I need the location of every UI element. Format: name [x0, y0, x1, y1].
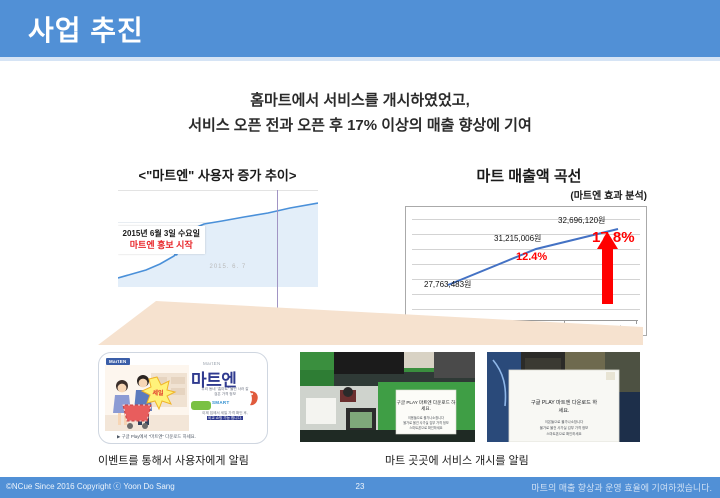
svg-text:구글 PLAY 마트엔 다운로드 하: 구글 PLAY 마트엔 다운로드 하 [397, 399, 456, 406]
connector-shape [98, 297, 643, 345]
counter-photo-image: 구글 PLAY 마트엔 다운로드 하 세요. 이용들으로 물가나소창니다 물가로… [300, 352, 475, 442]
lead-line-1: 홈마트에서 서비스를 개시하였었고, [0, 88, 720, 113]
promotion-callout-date: 2015년 6월 3일 수요일 [123, 228, 201, 239]
caption-left: 이벤트를 통해서 사용자에게 알림 [98, 452, 249, 468]
poster-photo-image: 구글 PLAY 마트엔 다운로드 하 세요. 이온들으로 물가나소창니다 물가로… [487, 352, 640, 442]
page-title: 사업 추진 [28, 9, 144, 49]
user-growth-chart-plot: 2015. 6. 7 2015년 6월 3일 수요일 마트엔 홍보 시작 [118, 190, 318, 287]
app-desc-line-4: 이제 집에서 세일 가격 확인 후, [202, 411, 248, 415]
android-robot-icon [191, 401, 211, 410]
svg-text:구글 PLAY 마트엔 다운로드 하: 구글 PLAY 마트엔 다운로드 하 [531, 398, 598, 406]
app-desc-line-5: 비교 쇼핑 가능 합니다. [207, 416, 243, 420]
user-growth-chart: <"마트엔" 사용자 증가 추이> 2015. 6. 7 2015년 6월 3일… [110, 165, 325, 287]
svg-text:스마트폰으로 확인하세요: 스마트폰으로 확인하세요 [546, 431, 581, 436]
event-marker-line [277, 190, 278, 308]
growth-pct-twoweek: 17.8% [592, 229, 635, 246]
sales-label-week: 31,215,006원 [494, 233, 541, 244]
app-desc-line-1: 우리 동네 "홈마트" 물건 사러 갈 [201, 387, 248, 391]
header-underline [0, 57, 720, 61]
growth-pct-week: 12.4% [516, 251, 547, 263]
user-growth-chart-title: <"마트엔" 사용자 증가 추이> [110, 165, 325, 184]
svg-text:세요.: 세요. [421, 405, 431, 412]
promotion-callout-text: 마트엔 홍보 시작 [123, 239, 201, 251]
slide-footer-bar: ©NCue Since 2016 Copyright ⓒ Yoon Do San… [0, 477, 720, 498]
lead-text-block: 홈마트에서 서비스를 개시하였었고, 서비스 오픈 전과 오픈 후 17% 이상… [0, 88, 720, 138]
app-desc-line-2: 검은 가격 정보 [214, 392, 236, 396]
svg-text:세일: 세일 [152, 389, 164, 397]
photo-app-promo-card: MartEN [98, 352, 268, 444]
svg-text:물가로 물건 사가실 김부 가격 정보: 물가로 물건 사가실 김부 가격 정보 [403, 420, 449, 425]
sales-label-twoweek: 32,696,120원 [558, 215, 605, 226]
app-store-chip: SMART [212, 400, 230, 405]
sales-curve-chart-title: 마트 매출액 곡선 [405, 165, 653, 186]
sales-curve-chart-subtitle: (마트엔 효과 분석) [405, 187, 653, 202]
lead-line-2: 서비스 오픈 전과 오픈 후 17% 이상의 매출 향상에 기여 [0, 113, 720, 138]
app-store-footer: ▶ 구글 Play에서 "마트엔" 다운로드 하세요. [117, 434, 196, 440]
caption-right: 마트 곳곳에 서비스 개시를 알림 [385, 452, 529, 468]
photo-service-poster: 구글 PLAY 마트엔 다운로드 하 세요. 이온들으로 물가나소창니다 물가로… [487, 352, 640, 442]
promotion-callout: 2015년 6월 3일 수요일 마트엔 홍보 시작 [118, 226, 206, 254]
svg-text:스마트폰으로 확인하세요: 스마트폰으로 확인하세요 [409, 425, 442, 430]
user-growth-axis-date: 2015. 6. 7 [210, 264, 247, 270]
sales-label-before: 27,763,483원 [424, 279, 471, 290]
footer-tagline: 마트의 매출 향상과 운영 효율에 기여하겠습니다. [531, 481, 712, 494]
app-description-2: 이제 집에서 세일 가격 확인 후, 비교 쇼핑 가능 합니다. [191, 411, 259, 422]
mascot-icon [247, 389, 261, 407]
app-logo-badge: MartEN [106, 358, 130, 365]
shoppers-illustration: 세일 [105, 365, 189, 431]
svg-text:세요.: 세요. [559, 406, 570, 414]
svg-text:물가로 물건 사가실 김부 가격 정보: 물가로 물건 사가실 김부 가격 정보 [540, 425, 588, 430]
svg-text:이온들으로 물가나소창니다: 이온들으로 물가나소창니다 [545, 419, 584, 424]
photo-mart-counter: 구글 PLAY 마트엔 다운로드 하 세요. 이용들으로 물가나소창니다 물가로… [300, 352, 475, 442]
slide-canvas: 사업 추진 홈마트에서 서비스를 개시하였었고, 서비스 오픈 전과 오픈 후 … [0, 0, 720, 498]
svg-text:이용들으로 물가나소창니다: 이용들으로 물가나소창니다 [408, 415, 444, 420]
